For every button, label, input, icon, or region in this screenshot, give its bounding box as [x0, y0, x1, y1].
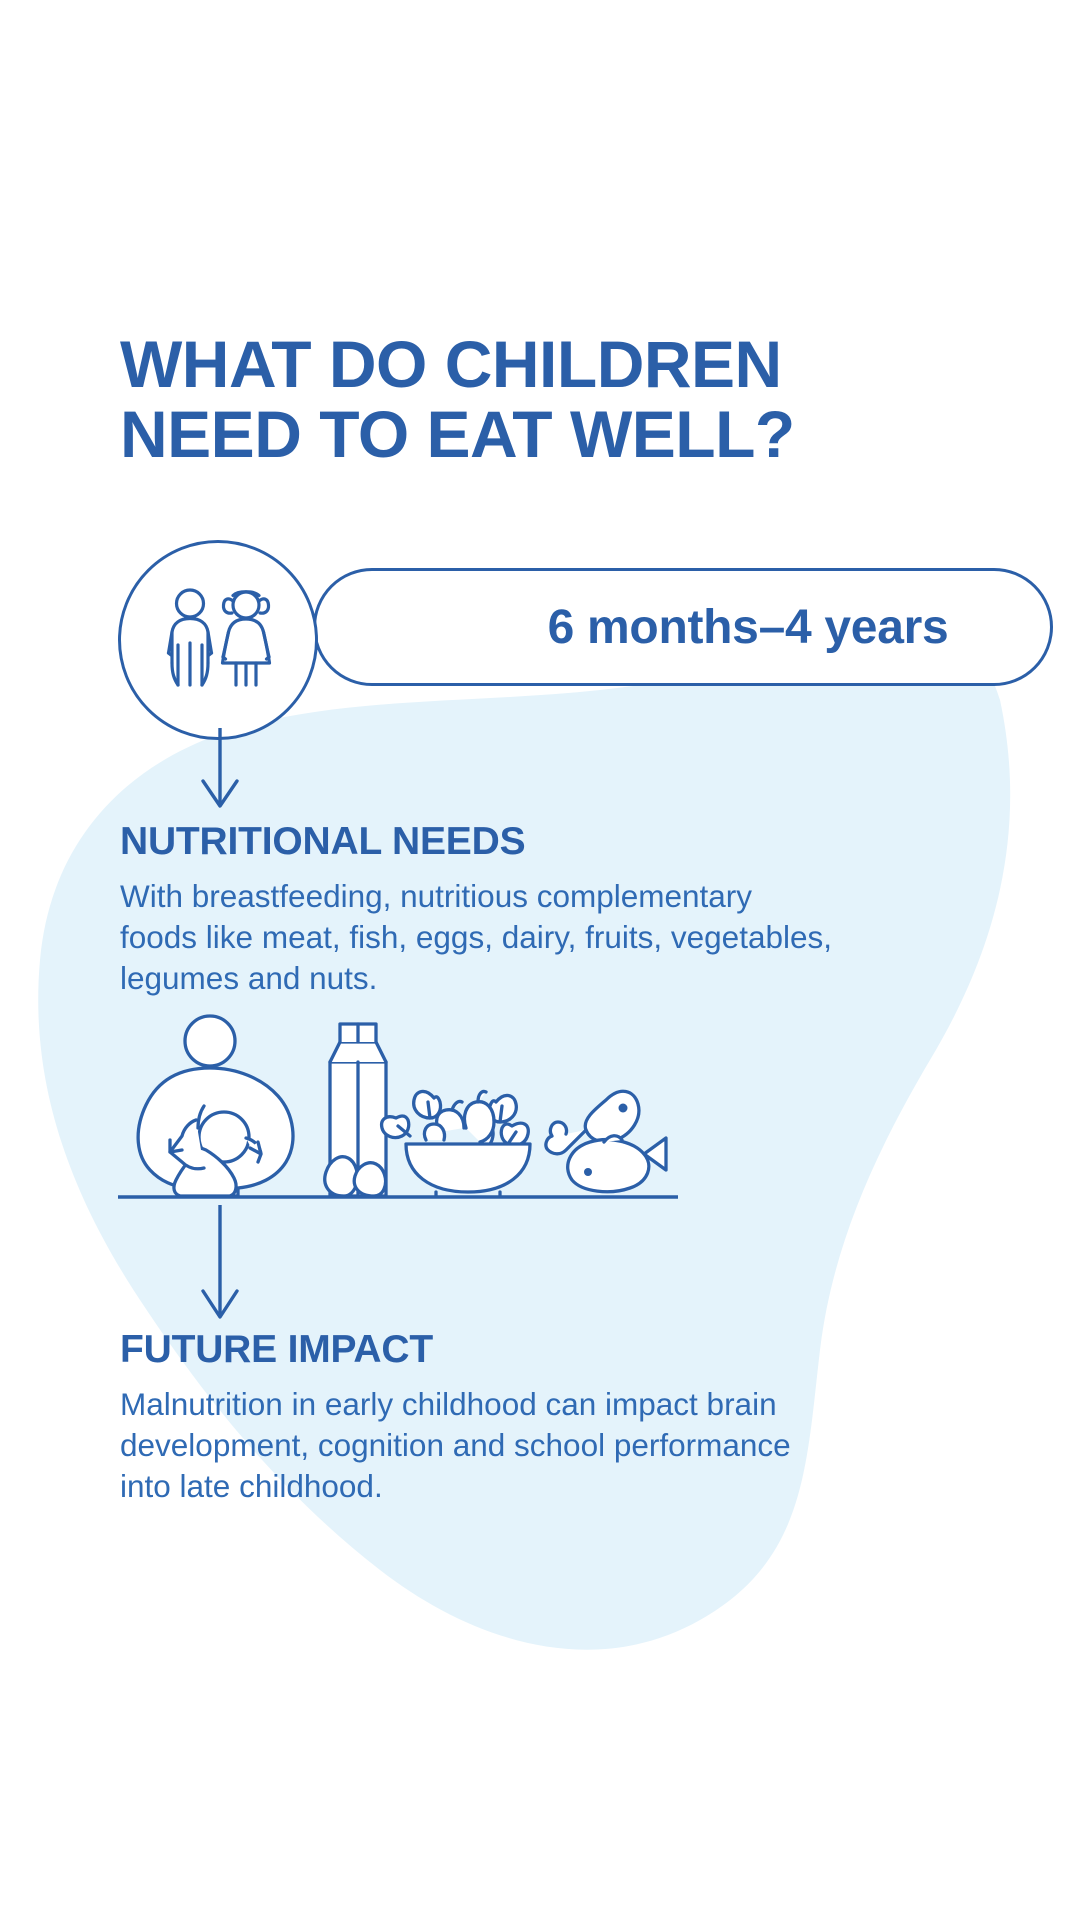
nutritional-needs-body-line-2: foods like meat, fish, eggs, dairy, frui… [120, 917, 960, 958]
page-title: WHAT DO CHILDREN NEED TO EAT WELL? [120, 330, 940, 470]
age-range-pill: 6 months–4 years [313, 568, 1053, 686]
two-children-icon [154, 585, 282, 695]
eggs-icon [325, 1157, 386, 1196]
age-range-label: 6 months–4 years [548, 600, 949, 655]
down-arrow-to-future-impact [190, 1205, 250, 1325]
mother-baby-and-foods-illustration [118, 1010, 678, 1215]
fish-icon [568, 1136, 666, 1192]
page-title-line-1: WHAT DO CHILDREN [120, 330, 940, 400]
future-impact-body: Malnutrition in early childhood can impa… [120, 1384, 960, 1507]
down-arrow-to-nutritional-needs [190, 728, 250, 813]
mother-holding-baby-icon [138, 1016, 293, 1196]
future-impact-body-line-3: into late childhood. [120, 1466, 960, 1507]
age-badge-circle [118, 540, 318, 740]
future-impact-heading: FUTURE IMPACT [120, 1328, 433, 1372]
nutritional-needs-body: With breastfeeding, nutritious complemen… [120, 876, 960, 999]
nutritional-needs-body-line-1: With breastfeeding, nutritious complemen… [120, 876, 960, 917]
future-impact-body-line-1: Malnutrition in early childhood can impa… [120, 1384, 960, 1425]
fruit-bowl-icon [382, 1091, 530, 1196]
page-title-line-2: NEED TO EAT WELL? [120, 400, 940, 470]
age-badge-group: 6 months–4 years [118, 540, 938, 712]
nutritional-needs-heading: NUTRITIONAL NEEDS [120, 820, 525, 864]
future-impact-body-line-2: development, cognition and school perfor… [120, 1425, 960, 1466]
nutritional-needs-body-line-3: legumes and nuts. [120, 958, 960, 999]
infographic-poster: WHAT DO CHILDREN NEED TO EAT WELL? 6 mon… [0, 0, 1080, 1920]
